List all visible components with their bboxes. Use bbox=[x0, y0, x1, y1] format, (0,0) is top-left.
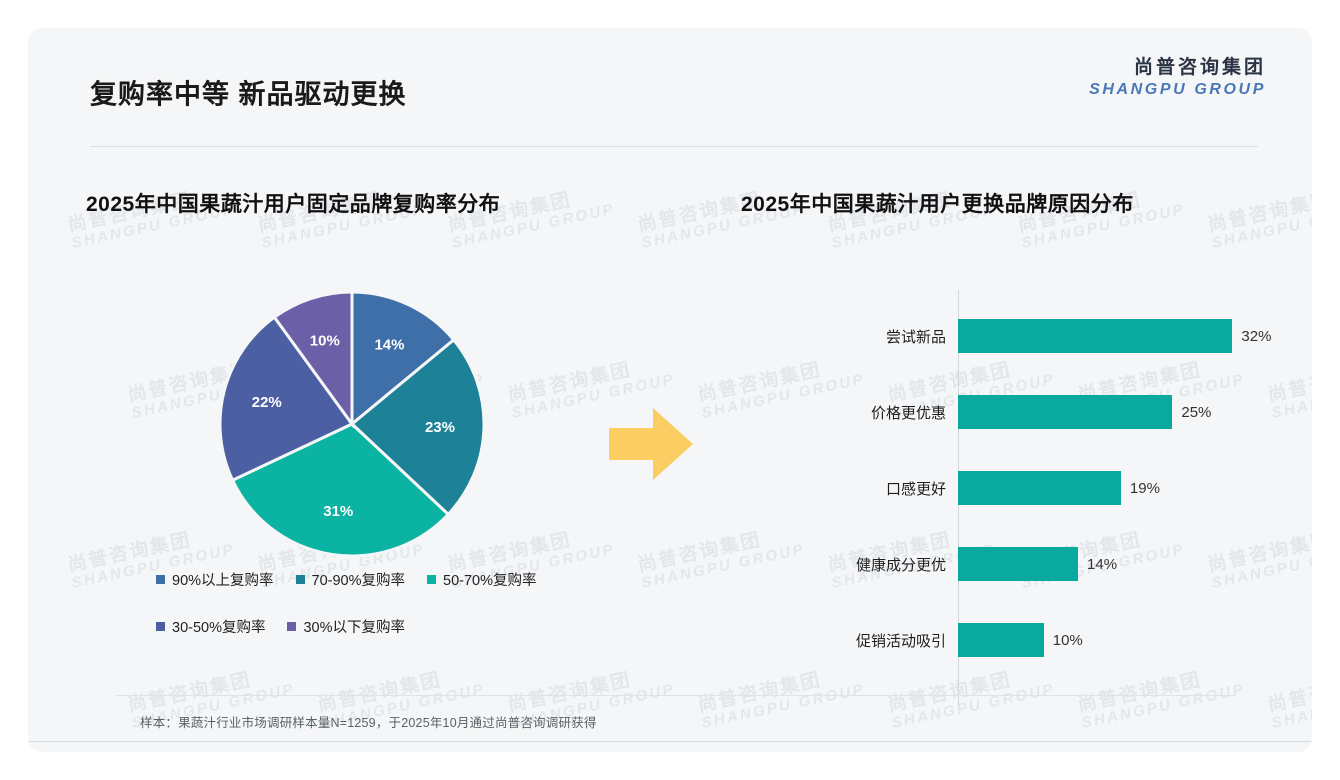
page-title: 复购率中等 新品驱动更换 bbox=[90, 73, 407, 112]
bar-category-label: 促销活动吸引 bbox=[741, 630, 958, 651]
legend-label: 70-90%复购率 bbox=[312, 569, 405, 590]
pie-legend: 90%以上复购率70-90%复购率50-70%复购率 30-50%复购率30%以… bbox=[156, 569, 626, 663]
right-arrow-icon bbox=[609, 404, 693, 489]
pie-slice-label: 23% bbox=[425, 419, 455, 436]
legend-item[interactable]: 30%以下复购率 bbox=[287, 616, 405, 637]
brand-logo: 尚普咨询集团 SHANGPU GROUP bbox=[1089, 56, 1266, 99]
slide-card: 尚普咨询集团SHANGPU GROUP尚普咨询集团SHANGPU GROUP尚普… bbox=[28, 28, 1312, 752]
legend-swatch-icon bbox=[296, 575, 305, 584]
bar-category-label: 尝试新品 bbox=[741, 326, 958, 347]
watermark-text: 尚普咨询集团SHANGPU GROUP bbox=[1206, 181, 1312, 253]
bar-track: 14% bbox=[958, 547, 1301, 581]
legend-swatch-icon bbox=[156, 575, 165, 584]
legend-item[interactable]: 90%以上复购率 bbox=[156, 569, 274, 590]
bar-chart: 尝试新品32%价格更优惠25%口感更好19%健康成分更优14%促销活动吸引10% bbox=[741, 290, 1301, 706]
source-divider bbox=[116, 695, 1234, 696]
bar-fill bbox=[958, 395, 1172, 429]
bar-value-label: 32% bbox=[1241, 328, 1271, 345]
legend-row-1: 90%以上复购率70-90%复购率50-70%复购率 bbox=[156, 569, 626, 590]
slide-root: 尚普咨询集团SHANGPU GROUP尚普咨询集团SHANGPU GROUP尚普… bbox=[0, 0, 1340, 780]
bar-value-label: 14% bbox=[1087, 556, 1117, 573]
slide-header: 复购率中等 新品驱动更换 尚普咨询集团 SHANGPU GROUP bbox=[28, 28, 1312, 122]
right-chart-title: 2025年中国果蔬汁用户更换品牌原因分布 bbox=[741, 188, 1134, 218]
legend-label: 30-50%复购率 bbox=[172, 616, 265, 637]
bar-chart-row: 价格更优惠25% bbox=[741, 395, 1301, 429]
pie-slice-label: 14% bbox=[374, 336, 404, 353]
bar-fill bbox=[958, 319, 1232, 353]
bar-category-label: 健康成分更优 bbox=[741, 554, 958, 575]
bar-fill bbox=[958, 623, 1044, 657]
bar-chart-row: 促销活动吸引10% bbox=[741, 623, 1301, 657]
logo-chinese-text: 尚普咨询集团 bbox=[1089, 56, 1266, 80]
source-note: 样本：果蔬汁行业市场调研样本量N=1259，于2025年10月通过尚普咨询调研获… bbox=[140, 712, 597, 731]
logo-english-text: SHANGPU GROUP bbox=[1089, 80, 1266, 99]
arrow-svg bbox=[609, 404, 693, 484]
bar-chart-row: 尝试新品32% bbox=[741, 319, 1301, 353]
bar-track: 32% bbox=[958, 319, 1301, 353]
pie-slice-label: 31% bbox=[323, 503, 353, 520]
legend-swatch-icon bbox=[156, 622, 165, 631]
bar-track: 25% bbox=[958, 395, 1301, 429]
legend-item[interactable]: 70-90%复购率 bbox=[296, 569, 405, 590]
legend-swatch-icon bbox=[287, 622, 296, 631]
slide-footer: ©2025.12 SHANGPU GROUP www.shangpu-china… bbox=[28, 742, 1312, 752]
pie-chart: 14%23%31%22%10% bbox=[214, 286, 490, 562]
legend-row-2: 30-50%复购率30%以下复购率 bbox=[156, 616, 626, 637]
legend-label: 30%以下复购率 bbox=[303, 616, 405, 637]
bar-value-label: 25% bbox=[1181, 404, 1211, 421]
legend-item[interactable]: 30-50%复购率 bbox=[156, 616, 265, 637]
bar-category-label: 价格更优惠 bbox=[741, 402, 958, 423]
left-chart-title: 2025年中国果蔬汁用户固定品牌复购率分布 bbox=[86, 188, 500, 218]
bar-fill bbox=[958, 547, 1078, 581]
bar-value-label: 10% bbox=[1053, 632, 1083, 649]
header-divider bbox=[90, 146, 1258, 147]
pie-chart-svg: 14%23%31%22%10% bbox=[214, 286, 490, 562]
bar-track: 10% bbox=[958, 623, 1301, 657]
pie-slice-label: 22% bbox=[252, 394, 282, 411]
legend-label: 90%以上复购率 bbox=[172, 569, 274, 590]
pie-slice-label: 10% bbox=[310, 332, 340, 349]
bar-track: 19% bbox=[958, 471, 1301, 505]
legend-item[interactable]: 50-70%复购率 bbox=[427, 569, 536, 590]
legend-label: 50-70%复购率 bbox=[443, 569, 536, 590]
bar-value-label: 19% bbox=[1130, 480, 1160, 497]
bar-fill bbox=[958, 471, 1121, 505]
legend-swatch-icon bbox=[427, 575, 436, 584]
bar-chart-row: 健康成分更优14% bbox=[741, 547, 1301, 581]
bar-chart-row: 口感更好19% bbox=[741, 471, 1301, 505]
bar-category-label: 口感更好 bbox=[741, 478, 958, 499]
